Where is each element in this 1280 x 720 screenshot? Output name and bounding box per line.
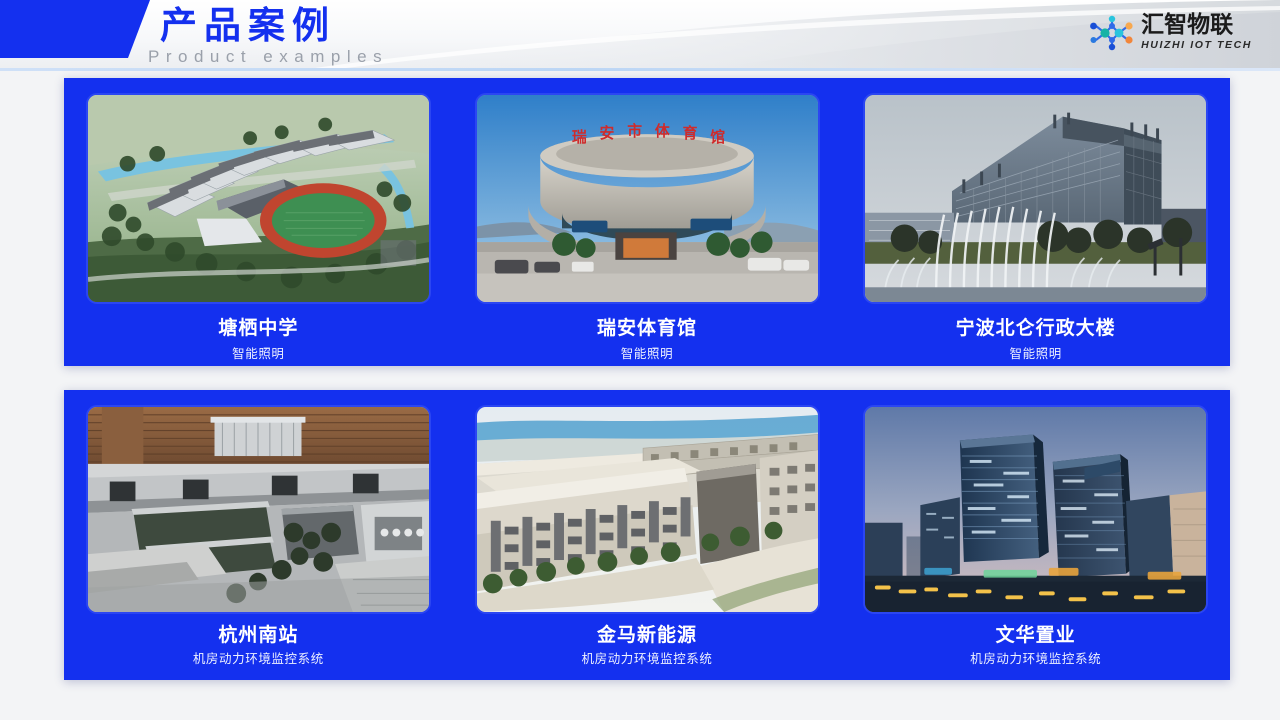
case-title: 塘栖中学 <box>218 317 298 339</box>
case-card[interactable]: 瑞安市 体育馆 <box>453 78 842 366</box>
brand-logo: 汇智物联 HUIZHI IOT TECH <box>1089 13 1252 52</box>
case-card[interactable]: 塘栖中学 智能照明 <box>64 78 453 366</box>
industrial-park-render[interactable] <box>475 405 820 614</box>
brand-name-cn: 汇智物联 <box>1141 13 1252 38</box>
city-towers-dusk-photo[interactable] <box>863 405 1208 614</box>
svg-text:瑞: 瑞 <box>571 128 586 146</box>
page-subtitle: Product examples <box>148 47 388 67</box>
header-accent-tab <box>0 0 150 58</box>
case-title: 金马新能源 <box>597 624 697 646</box>
brand-name-en: HUIZHI IOT TECH <box>1141 39 1252 52</box>
case-subtitle: 机房动力环境监控系统 <box>193 651 324 666</box>
government-office-tower-photo[interactable] <box>863 93 1208 304</box>
case-card-row-bottom: 杭州南站 机房动力环境监控系统 <box>64 390 1230 680</box>
case-panel-bottom: 杭州南站 机房动力环境监控系统 <box>64 390 1230 680</box>
case-card[interactable]: 宁波北仑行政大楼 智能照明 <box>841 78 1230 366</box>
case-card-row-top: 塘栖中学 智能照明 <box>64 78 1230 366</box>
case-subtitle: 智能照明 <box>621 346 673 361</box>
svg-text:体: 体 <box>654 122 669 140</box>
case-subtitle: 机房动力环境监控系统 <box>582 651 713 666</box>
svg-text:育: 育 <box>682 124 697 142</box>
page-title: 产品案例 <box>160 4 336 48</box>
svg-text:馆: 馆 <box>710 128 725 146</box>
case-subtitle: 智能照明 <box>1009 346 1061 361</box>
case-subtitle: 机房动力环境监控系统 <box>970 651 1101 666</box>
svg-text:市: 市 <box>627 122 642 140</box>
case-title: 瑞安体育馆 <box>597 317 697 339</box>
slide-header: 产品案例 Product examples 汇智物联 <box>0 0 1280 70</box>
railway-station-model-photo[interactable] <box>86 405 431 614</box>
case-panel-top: 塘栖中学 智能照明 <box>64 78 1230 366</box>
round-gymnasium-photo[interactable]: 瑞安市 体育馆 <box>475 93 820 304</box>
case-card[interactable]: 文华置业 机房动力环境监控系统 <box>841 390 1230 680</box>
case-card[interactable]: 杭州南站 机房动力环境监控系统 <box>64 390 453 680</box>
case-title: 杭州南站 <box>218 624 298 646</box>
case-title: 文华置业 <box>996 624 1076 646</box>
case-card[interactable]: 金马新能源 机房动力环境监控系统 <box>453 390 842 680</box>
case-title: 宁波北仑行政大楼 <box>956 317 1116 339</box>
header-divider <box>0 68 1280 71</box>
svg-text:安: 安 <box>599 124 614 142</box>
molecular-network-icon <box>1089 15 1135 51</box>
aerial-school-campus-render[interactable] <box>86 93 431 304</box>
brand-logo-text: 汇智物联 HUIZHI IOT TECH <box>1141 13 1252 52</box>
case-subtitle: 智能照明 <box>232 346 284 361</box>
